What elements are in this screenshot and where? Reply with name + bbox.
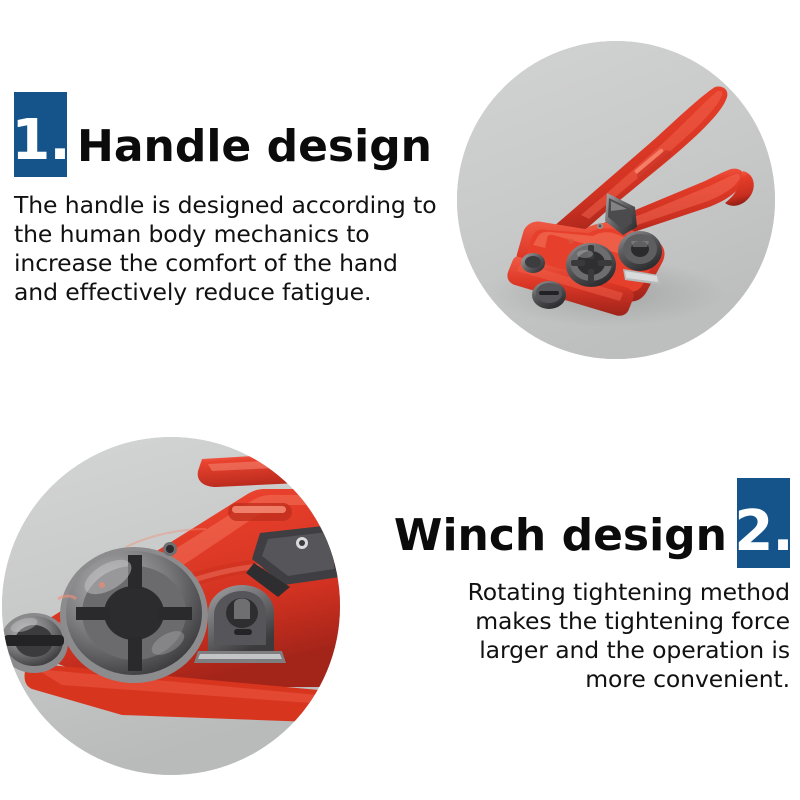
feature-2-description: Rotating tightening method makes the tig… [415,578,790,695]
feature-1-number-badge: 1. [14,92,67,177]
feature-block-winch-design: Winch design 2. Rotating tightening meth… [410,478,790,695]
feature-1-title: Handle design [77,125,432,179]
handle-design-photo [457,41,775,359]
feature-1-description: The handle is designed according to the … [14,191,439,308]
feature-2-heading-row: Winch design 2. [410,478,790,568]
feature-2-title: Winch design [394,514,727,568]
infographic-canvas: 1. Handle design The handle is designed … [0,0,800,800]
winch-design-photo [2,437,340,775]
feature-1-heading-row: 1. Handle design [14,92,444,179]
winch-design-illustration [2,437,340,775]
feature-2-number-badge: 2. [737,478,790,568]
handle-design-illustration [457,41,775,359]
feature-1-number-text: 1. [11,113,69,169]
feature-2-number-text: 2. [734,504,792,560]
feature-block-handle-design: 1. Handle design The handle is designed … [14,92,444,308]
